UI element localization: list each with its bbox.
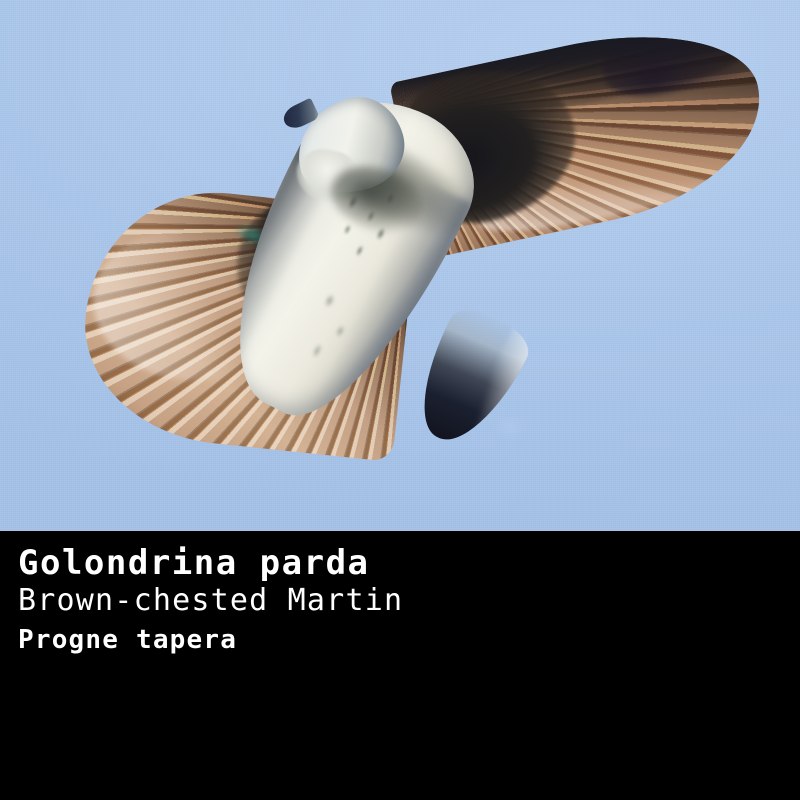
bird-photograph bbox=[0, 0, 800, 531]
species-name-block: Golondrina parda Brown-chested Martin Pr… bbox=[18, 543, 403, 657]
caption-panel: Golondrina parda Brown-chested Martin Pr… bbox=[0, 531, 800, 800]
common-name-english: Brown-chested Martin bbox=[18, 583, 403, 619]
scientific-name: Progne tapera bbox=[18, 623, 403, 657]
bird-subject bbox=[0, 0, 800, 531]
common-name-spanish: Golondrina parda bbox=[18, 543, 403, 583]
photo-card: Golondrina parda Brown-chested Martin Pr… bbox=[0, 0, 800, 800]
